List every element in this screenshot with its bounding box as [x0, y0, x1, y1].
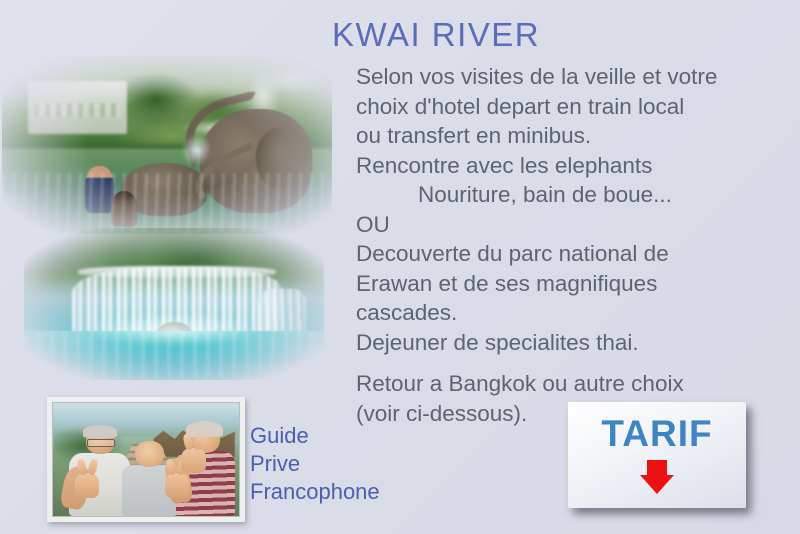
description-line: Selon vos visites de la veille et votre — [356, 62, 786, 92]
paragraph-spacer — [356, 357, 786, 369]
guide-group-photo — [47, 397, 245, 522]
description-indented-line: Nouriture, bain de boue... — [356, 180, 786, 210]
peace-sign-hand-center — [165, 473, 189, 498]
alternative-line: Erawan et de ses magnifiques — [356, 269, 786, 299]
peace-sign-hand-right — [181, 448, 205, 473]
guide-caption-line: Guide — [250, 422, 380, 450]
arrow-down-icon — [640, 460, 674, 494]
erawan-waterfall-photo — [24, 228, 324, 380]
page-title: KWAI RIVER — [332, 16, 540, 54]
guide-caption: Guide Prive Francophone — [250, 422, 380, 506]
waterfall-mist — [54, 313, 294, 346]
description-line: ou transfert en minibus. — [356, 121, 786, 151]
description-line: Rencontre avec les elephants — [356, 151, 786, 181]
alternative-line: cascades. — [356, 298, 786, 328]
arrow-head — [640, 475, 674, 494]
alternative-line: Decouverte du parc national de — [356, 239, 786, 269]
guide-caption-line: Prive — [250, 450, 380, 478]
tarif-button[interactable]: TARIF — [568, 402, 746, 508]
tarif-button-label: TARIF — [601, 414, 712, 454]
alternative-label: OU — [356, 210, 786, 240]
elephant-photo-ripples — [2, 173, 332, 234]
man-hair — [83, 425, 117, 437]
description-line: choix d'hotel depart en train local — [356, 92, 786, 122]
elephants-bathing-photo — [2, 56, 332, 234]
woman-center-head — [135, 441, 164, 466]
elephant-photo-lodge — [28, 81, 127, 134]
alternative-line: Dejeuner de specialites thai. — [356, 328, 786, 358]
woman-right-hair — [186, 421, 223, 437]
guide-group-photo-inner — [52, 402, 240, 517]
man-glasses — [87, 439, 116, 446]
closing-line: Retour a Bangkok ou autre choix — [356, 369, 786, 399]
poster-canvas: KWAI RIVER Selon vos visites de la veill… — [0, 0, 800, 534]
guide-caption-line: Francophone — [250, 478, 380, 506]
description-block: Selon vos visites de la veille et votre … — [356, 62, 786, 428]
peace-sign-hand-left — [75, 473, 99, 498]
